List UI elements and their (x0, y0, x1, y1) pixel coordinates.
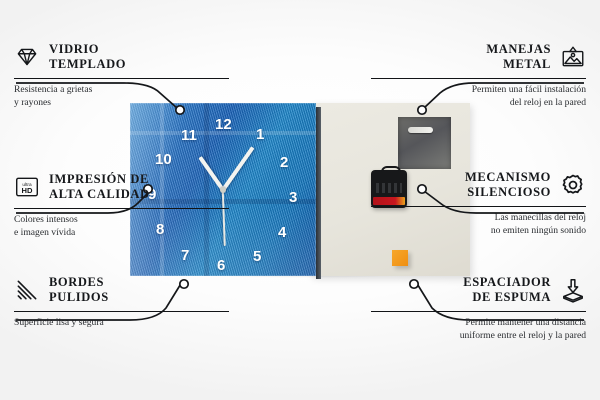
feature-callout-mechanism: MECANISMO SILENCIOSO Las manecillas del … (371, 170, 586, 238)
feature-title: ESPACIADOR DE ESPUMA (463, 275, 551, 306)
feature-desc-line2: no emiten ningún sonido (371, 225, 586, 238)
clock-number-10: 10 (155, 152, 172, 167)
clock-number-5: 5 (253, 249, 261, 264)
picture-hanger-icon (560, 44, 586, 70)
feature-title: MECANISMO SILENCIOSO (465, 170, 551, 201)
divider (14, 78, 229, 79)
feature-header: ultra HD IMPRESIÓN DE ALTA CALIDAD (14, 172, 229, 203)
feature-title: MANEJAS METAL (486, 42, 551, 73)
clock-number-1: 1 (256, 127, 264, 142)
feature-callout-glass: VIDRIO TEMPLADO Resistencia a grietas y … (14, 42, 229, 110)
foam-spacer-icon (560, 277, 586, 303)
feature-header: ESPACIADOR DE ESPUMA (371, 275, 586, 306)
feature-desc-line2: y rayones (14, 97, 229, 110)
feature-header: VIDRIO TEMPLADO (14, 42, 229, 73)
feature-callout-print: ultra HD IMPRESIÓN DE ALTA CALIDAD Color… (14, 172, 229, 240)
infographic-canvas: 12 1 2 3 4 5 6 7 8 9 10 11 (0, 0, 600, 400)
feature-desc-line1: Superficie lisa y segura (14, 317, 229, 330)
feature-header: MECANISMO SILENCIOSO (371, 170, 586, 201)
diamond-icon (14, 44, 40, 70)
feature-desc-line1: Colores intensos (14, 214, 229, 227)
glass-side-edge (316, 107, 321, 279)
divider (14, 311, 229, 312)
polished-edge-icon (14, 277, 40, 303)
feature-callout-metal: MANEJAS METAL Permiten una fácil instala… (371, 42, 586, 110)
feature-desc-line1: Permiten una fácil instalación (371, 84, 586, 97)
feature-callout-edges: BORDES PULIDOS Superficie lisa y segura (14, 275, 229, 330)
feature-header: BORDES PULIDOS (14, 275, 229, 306)
feature-desc-line2: del reloj en la pared (371, 97, 586, 110)
feature-callout-foam: ESPACIADOR DE ESPUMA Permite mantener un… (371, 275, 586, 343)
clock-number-3: 3 (289, 190, 297, 205)
feature-header: MANEJAS METAL (371, 42, 586, 73)
clock-number-12: 12 (215, 117, 232, 132)
feature-desc-line1: Resistencia a grietas (14, 84, 229, 97)
gear-icon (560, 172, 586, 198)
svg-text:HD: HD (22, 186, 33, 195)
divider (371, 78, 586, 79)
clock-number-6: 6 (217, 258, 225, 273)
feature-desc-line1: Permite mantener una distancia (371, 317, 586, 330)
clock-number-7: 7 (181, 248, 189, 263)
feature-title: BORDES PULIDOS (49, 275, 109, 306)
clock-number-4: 4 (278, 225, 286, 240)
clock-number-2: 2 (280, 155, 288, 170)
feature-title: VIDRIO TEMPLADO (49, 42, 126, 73)
divider (371, 206, 586, 207)
feature-title: IMPRESIÓN DE ALTA CALIDAD (49, 172, 150, 203)
metal-hanger-plate (398, 117, 451, 169)
hanger-slot (408, 127, 433, 133)
feature-desc-line2: uniforme entre el reloj y la pared (371, 330, 586, 343)
feature-desc-line2: e imagen vívida (14, 227, 229, 240)
foam-spacer-square (392, 250, 408, 266)
divider (14, 208, 229, 209)
feature-desc-line1: Las manecillas del reloj (371, 212, 586, 225)
divider (371, 311, 586, 312)
ultra-hd-icon: ultra HD (14, 174, 40, 200)
clock-number-11: 11 (181, 128, 197, 143)
